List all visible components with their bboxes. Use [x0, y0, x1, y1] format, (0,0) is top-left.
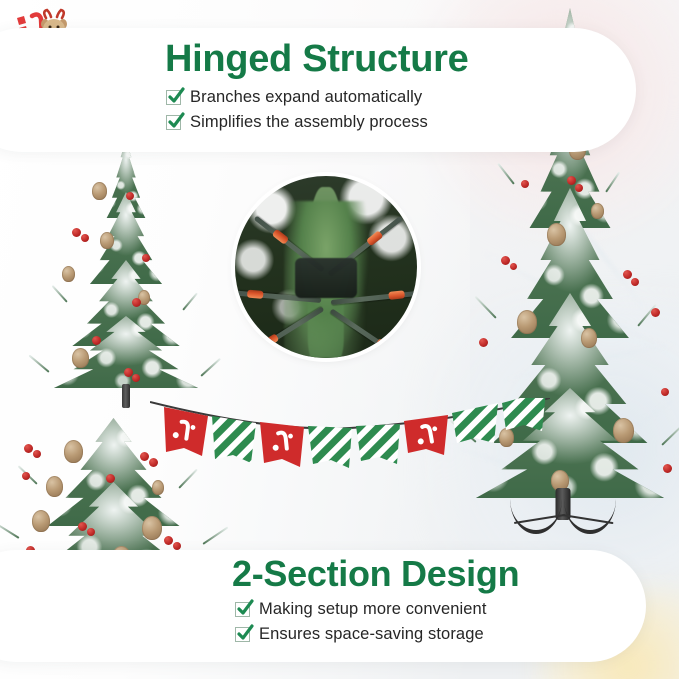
red-berry — [651, 308, 660, 317]
red-berry — [164, 536, 173, 545]
list-item: Ensures space-saving storage — [235, 625, 487, 644]
pine-cone — [142, 516, 162, 540]
pine-cone — [613, 418, 634, 443]
red-berry — [623, 270, 632, 279]
stand-leg — [510, 492, 562, 534]
pine-cone — [547, 223, 566, 246]
red-berry — [33, 450, 41, 458]
tree-needle — [474, 296, 496, 319]
bunting-flag — [404, 415, 448, 455]
tree-center-pole — [122, 384, 130, 408]
bullet-label: Simplifies the assembly process — [190, 113, 428, 132]
checkbox-checked-icon — [235, 602, 250, 617]
pine-cone — [32, 510, 50, 532]
red-berry — [132, 374, 140, 382]
hinge-connector-icon — [388, 290, 405, 300]
pine-cone — [62, 266, 75, 282]
red-berry — [663, 464, 672, 473]
pine-cone — [152, 480, 164, 495]
red-berry — [567, 176, 576, 185]
checkbox-checked-icon — [166, 115, 181, 130]
pine-cone — [100, 232, 114, 249]
red-berry — [106, 474, 115, 483]
pine-cone — [517, 310, 537, 334]
tree-needle — [661, 422, 679, 446]
tree-tier — [44, 316, 208, 388]
bunting-flag — [212, 416, 256, 463]
tree-needle — [52, 285, 68, 303]
bullet-label: Branches expand automatically — [190, 88, 422, 107]
hinged-branch-closeup-inset — [235, 176, 417, 358]
list-item: Simplifies the assembly process — [166, 113, 428, 132]
bunting-flag — [308, 426, 352, 468]
hinge-connector-icon — [366, 230, 384, 246]
red-berry — [510, 263, 517, 270]
list-item: Branches expand automatically — [166, 88, 428, 107]
tree-needle — [182, 293, 198, 311]
red-berry — [575, 184, 583, 192]
list-item: Making setup more convenient — [235, 600, 487, 619]
red-berry — [631, 278, 639, 286]
pine-cone — [581, 328, 597, 348]
tree-stand-right — [508, 488, 618, 536]
red-berry — [661, 388, 669, 396]
hinge-connector-icon — [247, 290, 264, 299]
tree-top-section-photo — [36, 140, 216, 390]
red-berry — [126, 192, 134, 200]
red-berry — [521, 180, 529, 188]
red-berry — [24, 444, 33, 453]
checkbox-checked-icon — [235, 627, 250, 642]
bunting-flag — [356, 424, 400, 464]
red-berry — [78, 522, 87, 531]
red-berry — [81, 234, 89, 242]
tree-needle — [605, 172, 620, 193]
top-panel-bullet-list: Branches expand automatically Simplifies… — [166, 88, 428, 138]
pine-cone — [46, 476, 63, 497]
inset-hinge-cluster — [295, 258, 357, 298]
bullet-label: Ensures space-saving storage — [259, 625, 484, 644]
red-berry — [87, 528, 95, 536]
pine-cone — [591, 203, 604, 219]
christmas-bunting-banner — [150, 398, 550, 478]
red-berry — [140, 452, 149, 461]
tree-needle — [497, 163, 515, 185]
bunting-flag — [452, 403, 498, 443]
pine-cone — [72, 348, 89, 368]
bottom-panel-headline: 2-Section Design — [232, 553, 519, 595]
red-berry — [173, 542, 181, 550]
red-berry — [132, 298, 141, 307]
stand-leg — [564, 492, 616, 534]
checkbox-checked-icon — [166, 90, 181, 105]
red-berry — [92, 336, 101, 345]
bunting-flag — [502, 398, 546, 431]
red-berry — [72, 228, 81, 237]
pine-cone — [64, 440, 83, 463]
red-berry — [479, 338, 488, 347]
red-berry — [501, 256, 510, 265]
top-panel-headline: Hinged Structure — [165, 38, 468, 81]
bullet-label: Making setup more convenient — [259, 600, 487, 619]
pine-cone — [92, 182, 107, 200]
bunting-flag — [260, 422, 304, 467]
red-berry — [22, 472, 30, 480]
product-infographic-canvas: Hinged Structure Branches expand automat… — [0, 0, 679, 679]
bottom-panel-bullet-list: Making setup more convenient Ensures spa… — [235, 600, 487, 650]
red-berry — [142, 254, 150, 262]
